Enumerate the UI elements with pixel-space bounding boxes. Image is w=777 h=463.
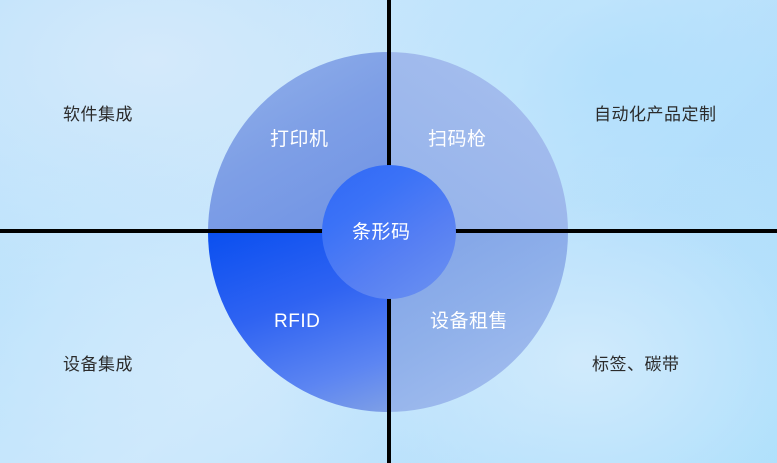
ring-label-scanner: 扫码枪	[428, 130, 487, 149]
quadrant-label-labels-ribbons: 标签、碳带	[592, 356, 680, 373]
ring-label-rfid: RFID	[274, 312, 320, 331]
quadrant-label-software-integration: 软件集成	[63, 106, 133, 123]
ring-label-rental: 设备租售	[430, 312, 508, 331]
quadrant-label-automation-custom: 自动化产品定制	[594, 106, 717, 123]
quadrant-label-device-integration: 设备集成	[63, 356, 133, 373]
ring-label-printer: 打印机	[270, 130, 329, 149]
core-label-barcode: 条形码	[352, 223, 411, 242]
diagram-canvas: 打印机 扫码枪 RFID 设备租售 条形码 软件集成 自动化产品定制 设备集成 …	[0, 0, 777, 463]
